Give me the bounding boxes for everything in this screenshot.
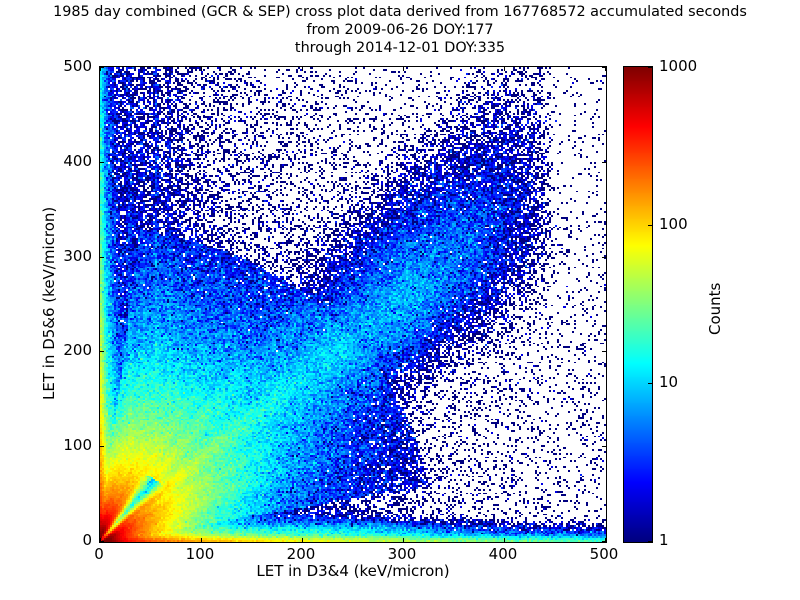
colorbar-tick-mark bbox=[648, 225, 652, 226]
title-line-2: from 2009-06-26 DOY:177 bbox=[0, 22, 800, 39]
x-tick-label: 400 bbox=[489, 545, 518, 563]
x-tick-label: 300 bbox=[388, 545, 417, 563]
y-tick-mark bbox=[602, 351, 606, 352]
y-tick-mark bbox=[100, 351, 104, 352]
title-line-1: 1985 day combined (GCR & SEP) cross plot… bbox=[0, 4, 800, 21]
x-tick-mark bbox=[302, 538, 303, 542]
x-tick-mark bbox=[504, 538, 505, 542]
y-tick-mark bbox=[100, 67, 104, 68]
figure-canvas: 1985 day combined (GCR & SEP) cross plot… bbox=[0, 0, 800, 600]
y-tick-label: 100 bbox=[0, 436, 92, 454]
colorbar-tick-mark bbox=[648, 67, 652, 68]
x-tick-mark bbox=[403, 538, 404, 542]
y-tick-mark bbox=[602, 257, 606, 258]
x-tick-mark bbox=[201, 538, 202, 542]
title-line-3: through 2014-12-01 DOY:335 bbox=[0, 40, 800, 57]
heatmap-canvas bbox=[100, 67, 606, 542]
colorbar bbox=[623, 66, 653, 543]
y-tick-label: 500 bbox=[0, 57, 92, 75]
colorbar-tick-label: 1000 bbox=[659, 57, 697, 75]
y-tick-label: 0 bbox=[0, 531, 92, 549]
colorbar-label: Counts bbox=[706, 283, 724, 335]
y-tick-mark bbox=[602, 67, 606, 68]
x-tick-mark bbox=[201, 67, 202, 71]
x-tick-mark bbox=[403, 67, 404, 71]
x-tick-label: 0 bbox=[94, 545, 104, 563]
y-tick-label: 400 bbox=[0, 152, 92, 170]
y-tick-mark bbox=[602, 446, 606, 447]
y-tick-mark bbox=[602, 541, 606, 542]
x-tick-label: 500 bbox=[590, 545, 619, 563]
x-tick-mark bbox=[504, 67, 505, 71]
x-axis-label: LET in D3&4 (keV/micron) bbox=[99, 562, 607, 580]
colorbar-tick-label: 10 bbox=[659, 373, 678, 391]
x-tick-label: 100 bbox=[186, 545, 215, 563]
y-tick-mark bbox=[100, 257, 104, 258]
y-tick-mark bbox=[100, 446, 104, 447]
x-tick-label: 200 bbox=[287, 545, 316, 563]
y-axis-label: LET in D5&6 (keV/micron) bbox=[40, 207, 58, 400]
y-tick-mark bbox=[100, 162, 104, 163]
colorbar-tick-mark bbox=[648, 541, 652, 542]
colorbar-tick-mark bbox=[648, 383, 652, 384]
colorbar-tick-label: 100 bbox=[659, 215, 688, 233]
colorbar-gradient bbox=[624, 67, 652, 542]
y-tick-mark bbox=[100, 541, 104, 542]
y-tick-mark bbox=[602, 162, 606, 163]
x-tick-mark bbox=[302, 67, 303, 71]
colorbar-tick-label: 1 bbox=[659, 531, 669, 549]
plot-axes bbox=[99, 66, 607, 543]
